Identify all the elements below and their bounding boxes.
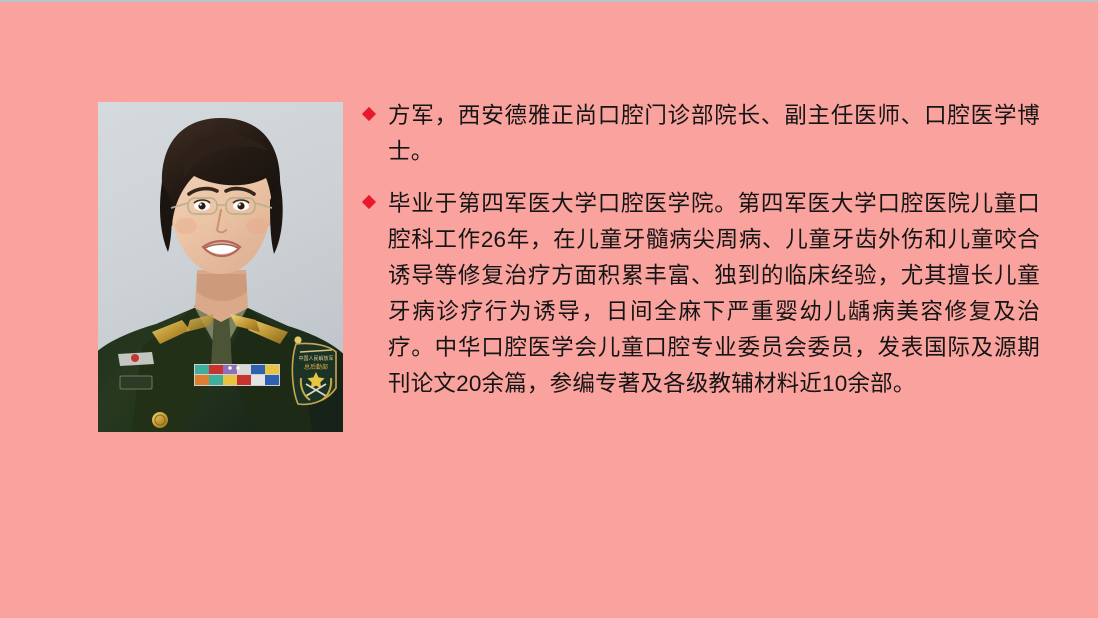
diamond-bullet-icon	[362, 186, 388, 207]
bio-bullet-item: 方军，西安德雅正尚口腔门诊部院长、副主任医师、口腔医学博士。	[362, 98, 1040, 170]
bio-bullet-text: 方军，西安德雅正尚口腔门诊部院长、副主任医师、口腔医学博士。	[388, 98, 1040, 170]
ribbon-bar	[194, 364, 280, 386]
slide-canvas: 中国人民解放军 总后勤部 方军，西安德雅正尚口腔门诊部院长、副主任医师、口腔医学…	[0, 0, 1098, 618]
portrait-photo-illustration: 中国人民解放军 总后勤部	[98, 102, 343, 432]
bio-text-block: 方军，西安德雅正尚口腔门诊部院长、副主任医师、口腔医学博士。 毕业于第四军医大学…	[362, 98, 1040, 402]
svg-text:中国人民解放军: 中国人民解放军	[298, 355, 333, 362]
svg-text:总后勤部: 总后勤部	[304, 363, 328, 371]
portrait-photo: 中国人民解放军 总后勤部	[98, 102, 343, 432]
diamond-bullet-icon	[362, 98, 388, 119]
shoulder-patch: 中国人民解放军 总后勤部	[292, 343, 336, 404]
bio-bullet-text: 毕业于第四军医大学口腔医学院。第四军医大学口腔医院儿童口腔科工作26年，在儿童牙…	[388, 186, 1040, 402]
top-edge-strip	[0, 0, 1098, 2]
bio-bullet-item: 毕业于第四军医大学口腔医学院。第四军医大学口腔医院儿童口腔科工作26年，在儿童牙…	[362, 186, 1040, 402]
